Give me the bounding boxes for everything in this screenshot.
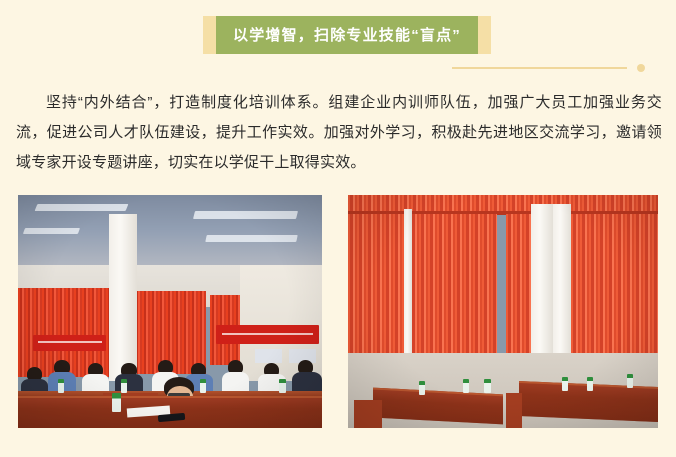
section-title-banner: 以学增智，扫除专业技能“盲点” xyxy=(203,16,491,54)
page-title: 以学增智，扫除专业技能“盲点” xyxy=(233,28,461,43)
article-body: 坚持“内外结合”，打造制度化培训体系。组建企业内训师队伍，加强广大员工加强业务交… xyxy=(16,88,662,178)
conference-attendees-photo xyxy=(348,195,658,428)
banner-left-cap xyxy=(203,16,216,54)
banner-body: 以学增智，扫除专业技能“盲点” xyxy=(216,16,478,54)
divider-dot xyxy=(637,64,645,72)
decorative-divider xyxy=(452,63,676,73)
divider-line xyxy=(452,67,627,69)
banner-right-cap xyxy=(478,16,491,54)
photo-vignette xyxy=(18,195,322,428)
training-classroom-photo xyxy=(18,195,322,428)
article-paragraph: 坚持“内外结合”，打造制度化培训体系。组建企业内训师队伍，加强广大员工加强业务交… xyxy=(16,88,662,178)
photo-gallery xyxy=(18,195,658,428)
photo-vignette xyxy=(348,195,658,428)
